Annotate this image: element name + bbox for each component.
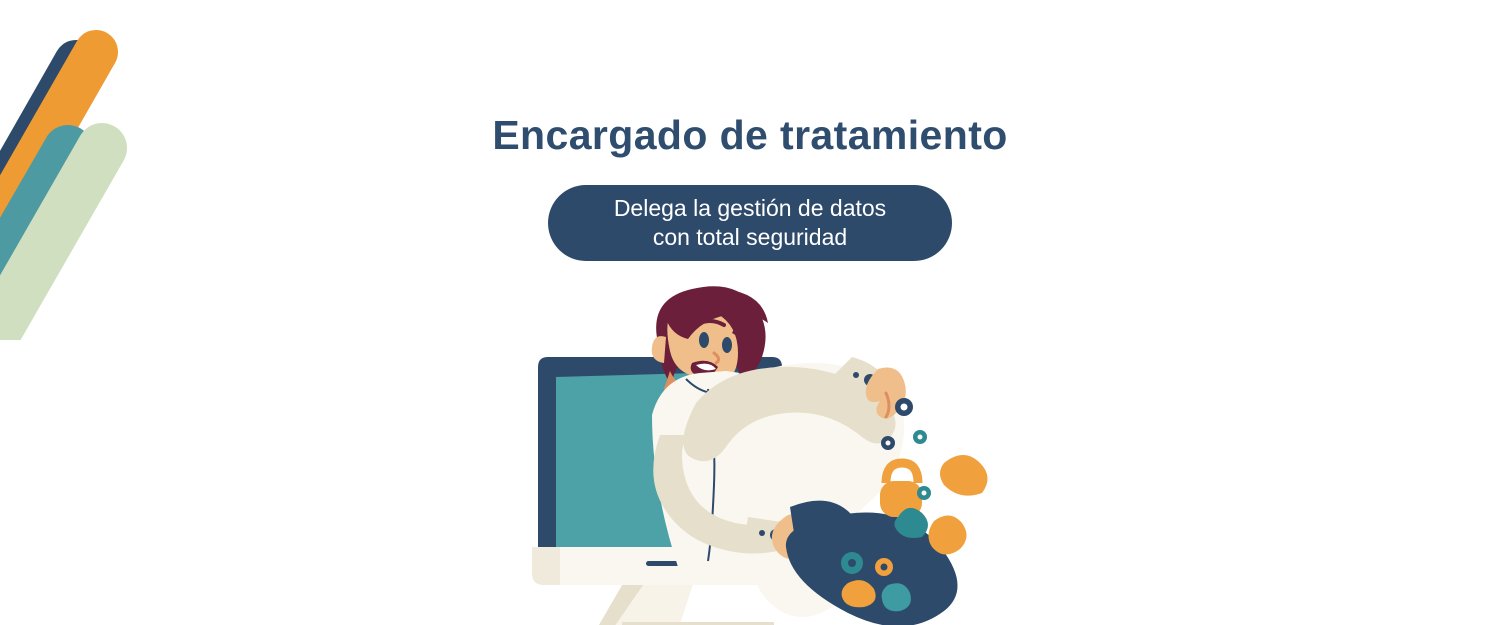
stripe-orange-icon [0, 52, 96, 300]
gear-icon-teal-small [917, 486, 931, 500]
hero-illustration [500, 285, 1020, 625]
gear-icon-pan-teal [841, 552, 863, 574]
person-eye-right-icon [722, 337, 732, 353]
cuff-button-upper-small-icon [853, 372, 859, 378]
page-title: Encargado de tratamiento [0, 113, 1500, 158]
blob-shape-teal-pan-icon [882, 583, 911, 611]
blob-shape-orange-upper-icon [940, 455, 988, 496]
tagline-line-2: con total seguridad [653, 223, 847, 252]
gear-icon-pan-orange [875, 558, 893, 576]
stripe-sage-icon [0, 148, 102, 340]
gear-icon-teal [913, 430, 927, 444]
tagline-badge: Delega la gestión de datos con total seg… [548, 185, 952, 261]
blob-shape-orange-lower-icon [928, 515, 966, 554]
corner-stripes-decoration [0, 0, 200, 340]
gear-icon-navy-upper [895, 398, 913, 416]
tagline-line-1: Delega la gestión de datos [614, 194, 886, 223]
person-eye-left-icon [699, 332, 709, 348]
promotional-banner: Encargado de tratamiento Delega la gesti… [0, 0, 1500, 625]
cuff-button-lower-small-icon [759, 530, 765, 536]
gear-icon [881, 436, 895, 450]
stripe-teal-icon [0, 150, 68, 330]
monitor-base-shadow-icon [532, 547, 560, 585]
padlock-icon [880, 463, 922, 517]
